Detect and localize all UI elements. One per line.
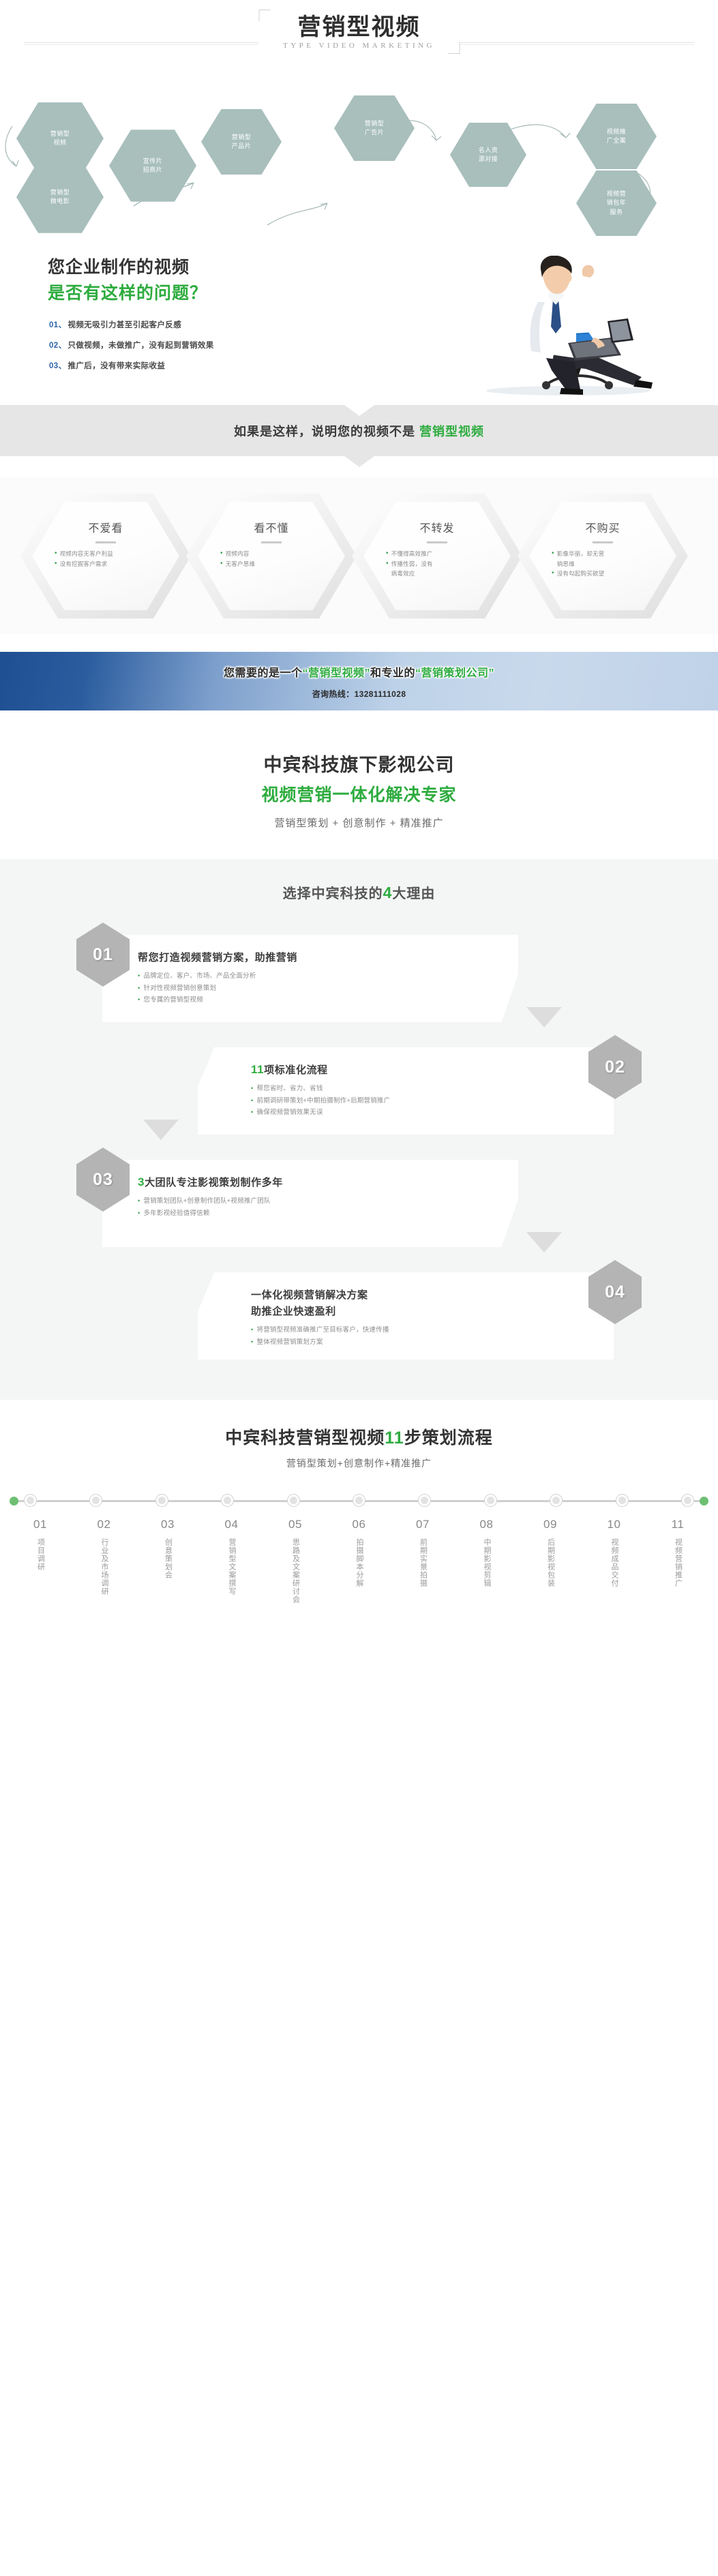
notch-top-icon [344, 405, 374, 416]
hex-service-2[interactable]: 营销型微电影 [16, 160, 104, 235]
reason-title-number: 11 [251, 1063, 264, 1076]
reason-bullet: •整体视频营销策划方案 [251, 1336, 593, 1349]
pain-hex-title: 不爱看 [88, 519, 123, 535]
bullet-text: 整体视频营销策划方案 [257, 1336, 323, 1349]
reason-title-text: 大团队专注影视策划制作多年 [145, 1177, 283, 1188]
steps-heading: 中宾科技营销型视频11步策划流程 [0, 1424, 718, 1449]
reason-card-4[interactable]: 一体化视频营销解决方案 助推企业快速盈利 •将营销型视频准确推广至目标客户，快速… [198, 1272, 614, 1360]
step-item-3: 03 创意策划会 [147, 1518, 189, 1604]
title-divider [261, 541, 282, 543]
hex-service-8[interactable]: 视频营销包年服务 [576, 169, 657, 237]
title-divider [95, 541, 116, 543]
pain-hex-2[interactable]: 看不懂 •视频内容 •无客户思维 [186, 490, 357, 623]
steps-subtitle: 营销型策划+创意制作+精准推广 [0, 1456, 718, 1470]
hex-service-5[interactable]: 营销型广告片 [334, 94, 415, 162]
bullet-item: •销思维 [552, 559, 654, 569]
bullet-dot-icon: • [55, 559, 57, 569]
bullet-item: •传播性弱，没有 [386, 559, 488, 569]
bullet-item: •没有勾起购买欲望 [552, 569, 654, 579]
bullet-text: 病毒效应 [391, 569, 415, 579]
reasons-heading-before: 选择中宾科技的 [283, 886, 383, 901]
problem-item-number: 01、 [49, 319, 67, 330]
timeline-node[interactable] [616, 1495, 628, 1506]
reason-bullet: •多年影视经验值得信赖 [138, 1208, 498, 1220]
reason-title: 11项标准化流程 [251, 1062, 593, 1077]
cta-headline: 您需要的是一个“营销型视频”和专业的“营销策划公司” [224, 663, 494, 680]
reason-title: 一体化视频营销解决方案 [251, 1287, 593, 1302]
bullet-text: 将营销型视频准确推广至目标客户，快速传播 [257, 1324, 389, 1336]
bullet-dot-icon: • [251, 1336, 254, 1349]
bullet-text: 传播性弱，没有 [391, 559, 433, 569]
hex-label: 名人资 [479, 146, 498, 155]
bullet-text: 没有勾起购买欲望 [557, 569, 605, 579]
steps-heading-number: 11 [385, 1428, 404, 1448]
reason-row-4: 一体化视频营销解决方案 助推企业快速盈利 •将营销型视频准确推广至目标客户，快速… [0, 1257, 718, 1370]
title-divider [427, 541, 447, 543]
reasons-heading-after: 大理由 [392, 886, 435, 901]
pain-hex-title: 看不懂 [254, 519, 288, 535]
header-title-box: 营销型视频 TYPE VIDEO MARKETING [258, 10, 460, 54]
page-title: 营销型视频 [283, 14, 435, 41]
timeline-node[interactable] [419, 1495, 430, 1506]
bullet-dot-icon: • [220, 549, 223, 559]
problem-item-text: 视频无吸引力甚至引起客户反感 [68, 319, 182, 330]
steps-section: 中宾科技营销型视频11步策划流程 营销型策划+创意制作+精准推广 [0, 1400, 718, 1617]
bullet-text: 没有挖掘客户需求 [60, 559, 108, 569]
steps-heading-after: 步策划流程 [404, 1428, 493, 1448]
hex-label: 服务 [607, 208, 627, 217]
bullet-text: 品牌定位、客户、市场、产品全面分析 [144, 970, 256, 983]
bullet-dot-icon: • [138, 1208, 140, 1220]
cta-part1: 您需要的是一个 [224, 668, 303, 679]
bullet-dot-icon: • [552, 549, 554, 559]
bullet-item: •影像华丽，却无营 [552, 549, 654, 559]
step-label: 项目调研 [33, 1538, 48, 1571]
page-header: 营销型视频 TYPE VIDEO MARKETING [0, 0, 718, 95]
company-title: 中宾科技旗下影视公司 [0, 750, 718, 777]
bullet-text: 不懂得高效推广 [391, 549, 433, 559]
reason-bullet: •品牌定位、客户、市场、产品全面分析 [138, 970, 498, 983]
bullet-text: 针对性视频营销创意策划 [144, 983, 217, 995]
steps-heading-before: 中宾科技营销型视频 [225, 1428, 385, 1448]
step-label: 视频成品交付 [607, 1538, 621, 1587]
businessman-illustration [466, 256, 670, 395]
pain-hex-bullets: •影像华丽，却无营 •销思维 •没有勾起购买欲望 [552, 549, 654, 579]
bullet-dot-icon: • [251, 1107, 254, 1119]
hex-label: 微电影 [50, 197, 70, 206]
timeline-node[interactable] [156, 1495, 168, 1506]
step-item-5: 05 思路及文案研讨会 [274, 1518, 316, 1604]
hex-label: 产品片 [232, 142, 252, 151]
step-item-9: 09 后期影视包装 [529, 1518, 571, 1604]
bullet-dot-icon: • [220, 559, 223, 569]
bullet-dot-icon: • [251, 1324, 254, 1336]
grey-bar-text-highlight: 营销型视频 [419, 425, 484, 438]
steps-grid: 01 项目调研 02 行业及市场调研 03 创意策划会 04 营销型文案撰写 0… [0, 1518, 718, 1604]
hex-service-3[interactable]: 宣传片招商片 [109, 128, 196, 203]
step-label: 创意策划会 [161, 1538, 175, 1579]
bullet-text: 多年影视经验值得信赖 [144, 1208, 210, 1220]
step-number: 11 [657, 1518, 699, 1531]
reason-bullet: •前期调研带策划+中期拍摄制作+后期营销推广 [251, 1095, 593, 1107]
step-item-7: 07 前期实景拍摄 [402, 1518, 444, 1604]
bullet-item: •没有挖掘客户需求 [55, 559, 157, 569]
bullet-text: 前期调研带策划+中期拍摄制作+后期营销推广 [257, 1095, 391, 1107]
step-item-10: 10 视频成品交付 [593, 1518, 635, 1604]
hex-label: 营销型 [50, 188, 70, 197]
bullet-dot-icon: • [552, 569, 554, 579]
bullet-item: •无客户思维 [220, 559, 323, 569]
step-label: 行业及市场调研 [97, 1538, 111, 1596]
reason-bullet: •针对性视频营销创意策划 [138, 983, 498, 995]
timeline-node[interactable] [485, 1495, 496, 1506]
timeline-node-row [0, 1493, 718, 1506]
reason-bullet: •确保视频营销效果无误 [251, 1107, 593, 1119]
reason-row-2: 11项标准化流程 •帮您省时、省力、省钱 •前期调研带策划+中期拍摄制作+后期营… [0, 1032, 718, 1145]
step-number: 01 [19, 1518, 61, 1531]
flow-arrow-icon [143, 1120, 179, 1140]
step-number: 09 [529, 1518, 571, 1531]
step-number: 06 [338, 1518, 380, 1531]
bullet-dot-icon: • [251, 1083, 254, 1095]
reason-bullet: •您专属的营销型视频 [138, 994, 498, 1006]
problem-item-number: 03、 [49, 360, 67, 371]
step-label: 视频营销推广 [671, 1538, 685, 1587]
page-subtitle-en: TYPE VIDEO MARKETING [283, 42, 435, 50]
reason-card-content: 一体化视频营销解决方案 助推企业快速盈利 •将营销型视频准确推广至目标客户，快速… [198, 1272, 614, 1348]
bullet-text: 视频内容 [226, 549, 250, 559]
bullet-dot-icon: • [386, 559, 389, 569]
bullet-item: •病毒效应 [386, 569, 488, 579]
step-number: 05 [274, 1518, 316, 1531]
company-subtitle: 视频营销一体化解决专家 [0, 781, 718, 806]
pain-hex-bullets: •视频内容 •无客户思维 [220, 549, 323, 569]
bullet-text: 无客户思维 [226, 559, 256, 569]
hex-label: 销包年 [607, 198, 627, 207]
bullet-text: 影像华丽，却无营 [557, 549, 605, 559]
company-tagline: 营销型策划 + 创意制作 + 精准推广 [0, 815, 718, 830]
bullet-item: •视频内容无客户利益 [55, 549, 157, 559]
reason-bullet: •帮您省时、省力、省钱 [251, 1083, 593, 1095]
blue-bar: 您需要的是一个“营销型视频”和专业的“营销策划公司” 咨询热线：13281111… [0, 652, 718, 710]
problem-item-text: 只做视频，未做推广，没有起到营销效果 [68, 340, 214, 350]
timeline-node[interactable] [288, 1495, 299, 1506]
bullet-text: 帮您省时、省力、省钱 [257, 1083, 323, 1095]
reason-row-3: 3大团队专注影视策划制作多年 •营销策划团队+创意制作团队+视频推广团队 •多年… [0, 1145, 718, 1257]
bullet-text: 视频内容无客户利益 [60, 549, 113, 559]
reasons-heading: 选择中宾科技的4大理由 [0, 882, 718, 902]
bullet-dot-icon: • [251, 1095, 254, 1107]
landing-page: 营销型视频 TYPE VIDEO MARKETING 营销型视频 营销型微电影 … [0, 0, 718, 1617]
reason-row-1: 帮您打造视频营销方案，助推营销 •品牌定位、客户、市场、产品全面分析 •针对性视… [0, 920, 718, 1032]
step-label: 中期影视剪辑 [479, 1538, 494, 1587]
hex-label: 营销型 [50, 130, 70, 138]
service-hex-network: 营销型视频 营销型微电影 宣传片招商片 营销型产品片 营销型广告片 名人资源对接… [0, 95, 718, 239]
step-item-8: 08 中期影视剪辑 [466, 1518, 508, 1604]
title-divider [593, 541, 613, 543]
step-label: 后期影视包装 [543, 1538, 558, 1587]
step-item-2: 02 行业及市场调研 [83, 1518, 125, 1604]
bullet-text: 销思维 [557, 559, 575, 569]
hex-label: 广全案 [607, 136, 627, 145]
step-number: 02 [83, 1518, 125, 1531]
pain-hex-bullets: •视频内容无客户利益 •没有挖掘客户需求 [55, 549, 157, 569]
hex-label: 视频营 [607, 190, 627, 198]
step-label: 营销型文案撰写 [224, 1538, 239, 1596]
pain-point-hexes: 不爱看 •视频内容无客户利益 •没有挖掘客户需求 看不懂 •视频内容 •无客户思… [0, 477, 718, 634]
step-number: 04 [211, 1518, 253, 1531]
step-number: 07 [402, 1518, 444, 1531]
cta-quote2: “营销策划公司” [415, 668, 494, 679]
step-number: 10 [593, 1518, 635, 1531]
reason-title-text: 帮您打造视频营销方案，助推营销 [138, 952, 297, 963]
cta-quote1: “营销型视频” [302, 668, 370, 679]
pain-hex-bullets: •不懂得高效推广 •传播性弱，没有 •病毒效应 [386, 549, 488, 579]
cta-blue-banner: 您需要的是一个“营销型视频”和专业的“营销策划公司” 咨询热线：13281111… [0, 634, 718, 730]
grey-bar-text-plain: 如果是这样，说明您的视频不是 [234, 425, 419, 438]
problem-item-text: 推广后，没有带来实际收益 [68, 360, 166, 371]
timeline-node[interactable] [682, 1495, 693, 1506]
hex-label: 视频 [50, 138, 70, 147]
reason-bullet: •营销策划团队+创意制作团队+视频推广团队 [138, 1195, 498, 1208]
bullet-text: 确保视频营销效果无误 [257, 1107, 323, 1119]
hex-label: 广告片 [365, 128, 385, 137]
reason-card-2[interactable]: 11项标准化流程 •帮您省时、省力、省钱 •前期调研带策划+中期拍摄制作+后期营… [198, 1047, 614, 1135]
hex-label: 营销型 [232, 133, 252, 142]
hex-service-7[interactable]: 视频推广全案 [576, 102, 657, 170]
cta-part2: 和专业的 [370, 668, 415, 679]
bullet-item: •不懂得高效推广 [386, 549, 488, 559]
bullet-dot-icon: • [138, 1195, 140, 1208]
step-label: 拍摄脚本分解 [352, 1538, 366, 1587]
reason-title-number: 3 [138, 1175, 145, 1188]
timeline-node[interactable] [353, 1495, 365, 1506]
reason-bullet: •将营销型视频准确推广至目标客户，快速传播 [251, 1324, 593, 1336]
reason-title-text: 一体化视频营销解决方案 [251, 1289, 368, 1301]
bullet-dot-icon: • [138, 983, 140, 995]
bullet-dot-icon: • [138, 970, 140, 983]
steps-timeline-rail [0, 1493, 718, 1510]
hex-label: 视频推 [607, 128, 627, 136]
reason-card-content: 帮您打造视频营销方案，助推营销 •品牌定位、客户、市场、产品全面分析 •针对性视… [102, 935, 518, 1006]
hex-service-4[interactable]: 营销型产品片 [201, 108, 282, 176]
problem-item-number: 02、 [49, 340, 67, 350]
reasons-section: 选择中宾科技的4大理由 帮您打造视频营销方案，助推营销 •品牌定位、客户、市场、… [0, 859, 718, 1400]
hex-service-6[interactable]: 名人资源对接 [450, 121, 526, 188]
pain-hex-3[interactable]: 不转发 •不懂得高效推广 •传播性弱，没有 •病毒效应 [352, 490, 522, 623]
hex-label: 宣传片 [143, 157, 163, 166]
step-label: 思路及文案研讨会 [288, 1538, 303, 1604]
flow-arrow-icon [526, 1007, 562, 1028]
reasons-heading-number: 4 [383, 884, 393, 901]
timeline-node[interactable] [550, 1495, 562, 1506]
reason-card-content: 11项标准化流程 •帮您省时、省力、省钱 •前期调研带策划+中期拍摄制作+后期营… [198, 1047, 614, 1119]
company-section: 中宾科技旗下影视公司 视频营销一体化解决专家 营销型策划 + 创意制作 + 精准… [0, 730, 718, 859]
reason-card-3[interactable]: 3大团队专注影视策划制作多年 •营销策划团队+创意制作团队+视频推广团队 •多年… [102, 1160, 518, 1247]
bullet-dot-icon: • [138, 994, 140, 1006]
reason-title: 3大团队专注影视策划制作多年 [138, 1175, 498, 1189]
pain-hex-1[interactable]: 不爱看 •视频内容无客户利益 •没有挖掘客户需求 [20, 490, 191, 623]
notch-bottom-icon [344, 456, 374, 467]
bullet-item: •视频内容 [220, 549, 323, 559]
step-item-1: 01 项目调研 [19, 1518, 61, 1604]
problem-section: 您企业制作的视频 是否有这样的问题？ 01、 视频无吸引力甚至引起客户反感 02… [0, 239, 718, 395]
reason-card-1[interactable]: 帮您打造视频营销方案，助推营销 •品牌定位、客户、市场、产品全面分析 •针对性视… [102, 935, 518, 1022]
hotline-text[interactable]: 咨询热线：13281111028 [312, 688, 406, 700]
step-label: 前期实景拍摄 [416, 1538, 430, 1587]
step-number: 08 [466, 1518, 508, 1531]
timeline-node[interactable] [222, 1495, 233, 1506]
pain-hex-4[interactable]: 不购买 •影像华丽，却无营 •销思维 •没有勾起购买欲望 [518, 490, 688, 623]
timeline-node[interactable] [25, 1495, 36, 1506]
bullet-dot-icon: • [386, 549, 389, 559]
step-item-4: 04 营销型文案撰写 [211, 1518, 253, 1604]
hex-label: 招商片 [143, 166, 163, 175]
grey-bar-text: 如果是这样，说明您的视频不是 营销型视频 [234, 422, 484, 440]
timeline-node[interactable] [90, 1495, 102, 1506]
step-number: 03 [147, 1518, 189, 1531]
flow-arrow-icon [526, 1232, 562, 1253]
bullet-text: 营销策划团队+创意制作团队+视频推广团队 [144, 1195, 271, 1208]
reason-title-line2: 助推企业快速盈利 [251, 1304, 593, 1318]
reason-title-text: 项标准化流程 [264, 1064, 328, 1076]
bullet-text: 您专属的营销型视频 [144, 994, 203, 1006]
step-item-6: 06 拍摄脚本分解 [338, 1518, 380, 1604]
pain-hex-title: 不购买 [585, 519, 620, 535]
grey-statement-banner: 如果是这样，说明您的视频不是 营销型视频 [0, 395, 718, 477]
reason-card-content: 3大团队专注影视策划制作多年 •营销策划团队+创意制作团队+视频推广团队 •多年… [102, 1160, 518, 1219]
reason-title: 帮您打造视频营销方案，助推营销 [138, 950, 498, 964]
bullet-dot-icon: • [55, 549, 57, 559]
hex-label: 营销型 [365, 119, 385, 128]
hex-label: 源对接 [479, 155, 498, 164]
pain-hex-title: 不转发 [419, 519, 454, 535]
step-item-11: 11 视频营销推广 [657, 1518, 699, 1604]
